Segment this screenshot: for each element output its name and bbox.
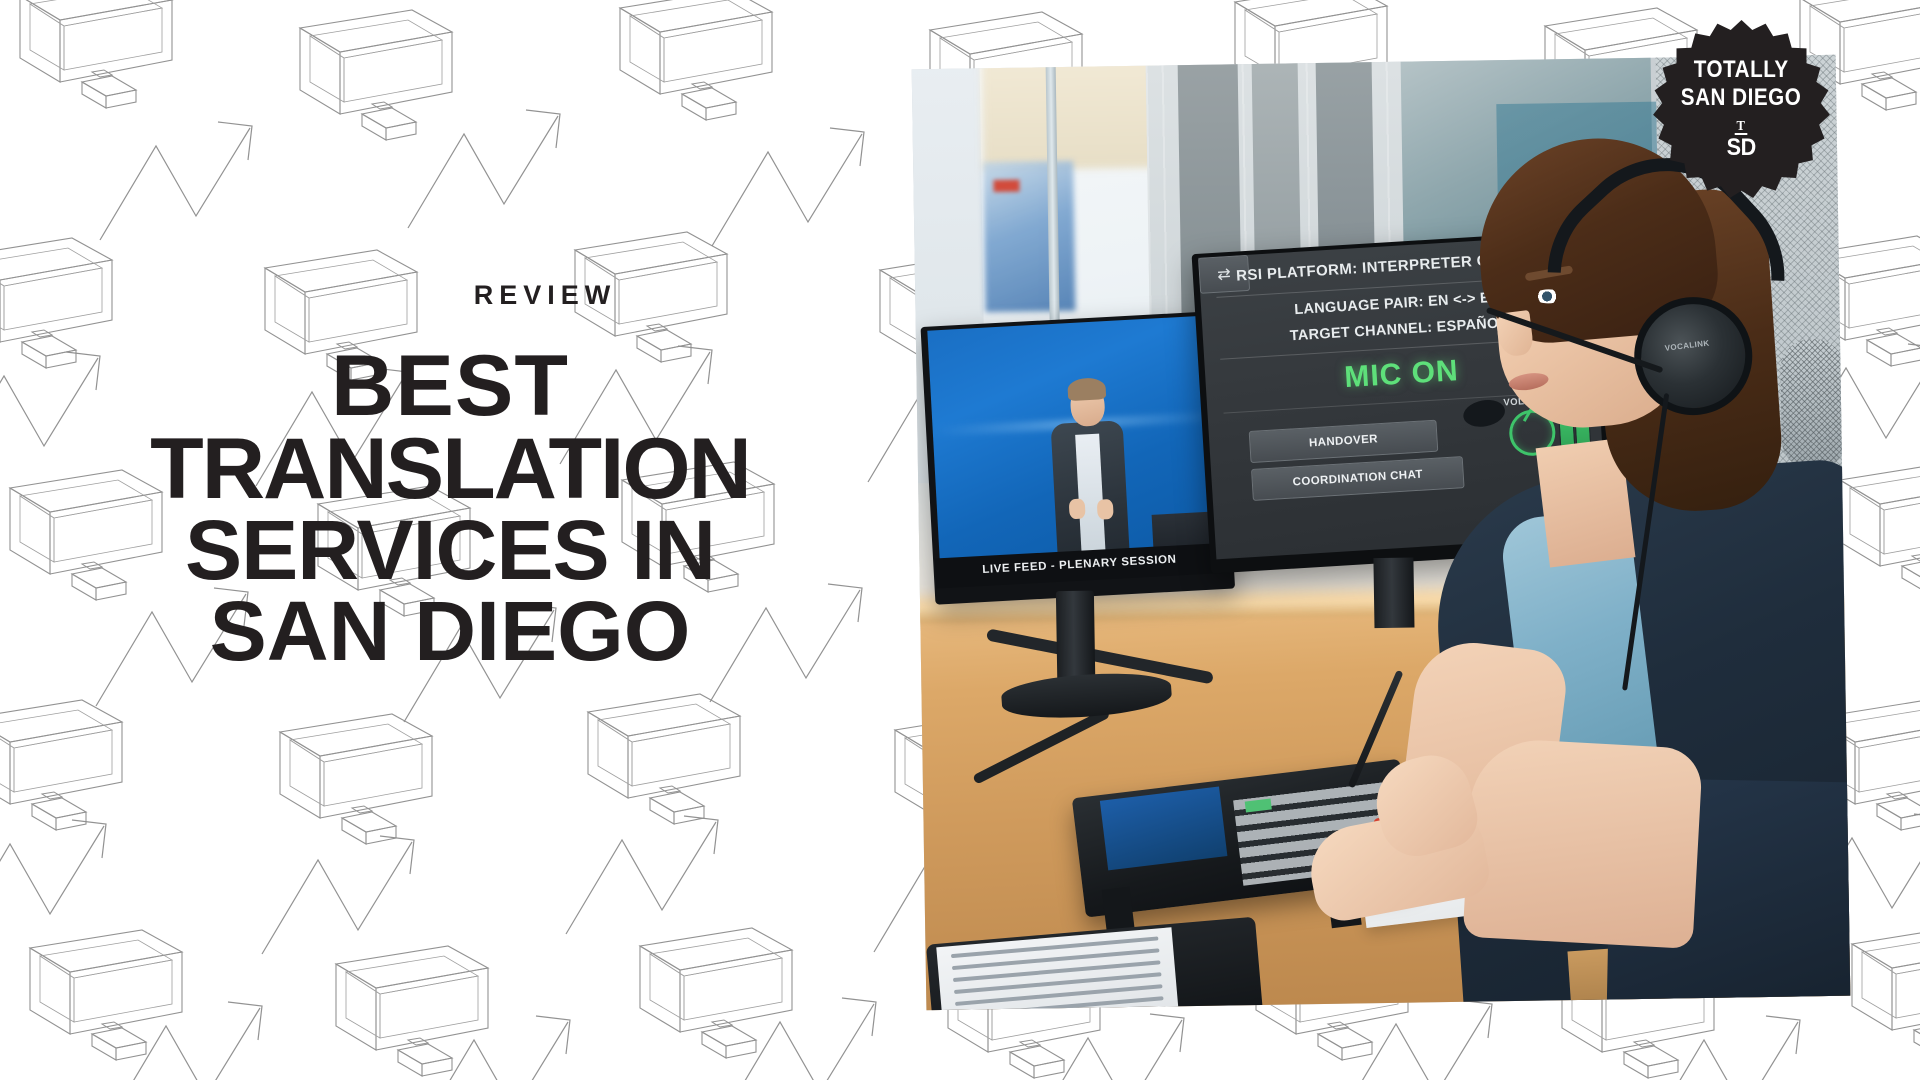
title-line-4: SAN DIEGO xyxy=(134,591,766,672)
title-line-1: BEST xyxy=(134,345,766,428)
headline-block: REVIEW BEST TRANSLATION SERVICES IN SAN … xyxy=(0,0,900,1080)
speaker-hand xyxy=(1097,499,1114,520)
right-monitor-stand xyxy=(1373,557,1414,628)
console-device-screen xyxy=(1100,786,1228,870)
eyebrow-label: REVIEW xyxy=(474,282,617,309)
speaker-hand xyxy=(1069,498,1086,519)
window-sky xyxy=(981,55,1158,170)
totally-san-diego-badge[interactable]: TOTALLY SAN DIEGO T SD xyxy=(1651,18,1832,199)
title-line-2: TRANSLATION xyxy=(134,428,766,511)
window-sign-accent xyxy=(993,180,1019,192)
coordination-chat-button[interactable]: COORDINATION CHAT xyxy=(1251,456,1465,501)
live-feed-label: LIVE FEED - PLENARY SESSION xyxy=(982,553,1177,575)
monitor-stand-neck xyxy=(1056,591,1096,688)
badge-starburst-icon xyxy=(1651,18,1832,199)
speaker-hair xyxy=(1067,377,1106,401)
left-monitor-screen[interactable] xyxy=(927,315,1227,568)
title-line-3: SERVICES IN xyxy=(134,510,766,591)
forearm-typing xyxy=(1463,737,1703,949)
handover-button[interactable]: HANDOVER xyxy=(1249,420,1439,463)
studio-microphone xyxy=(1780,339,1846,470)
page-title: BEST TRANSLATION SERVICES IN SAN DIEGO xyxy=(134,345,766,671)
